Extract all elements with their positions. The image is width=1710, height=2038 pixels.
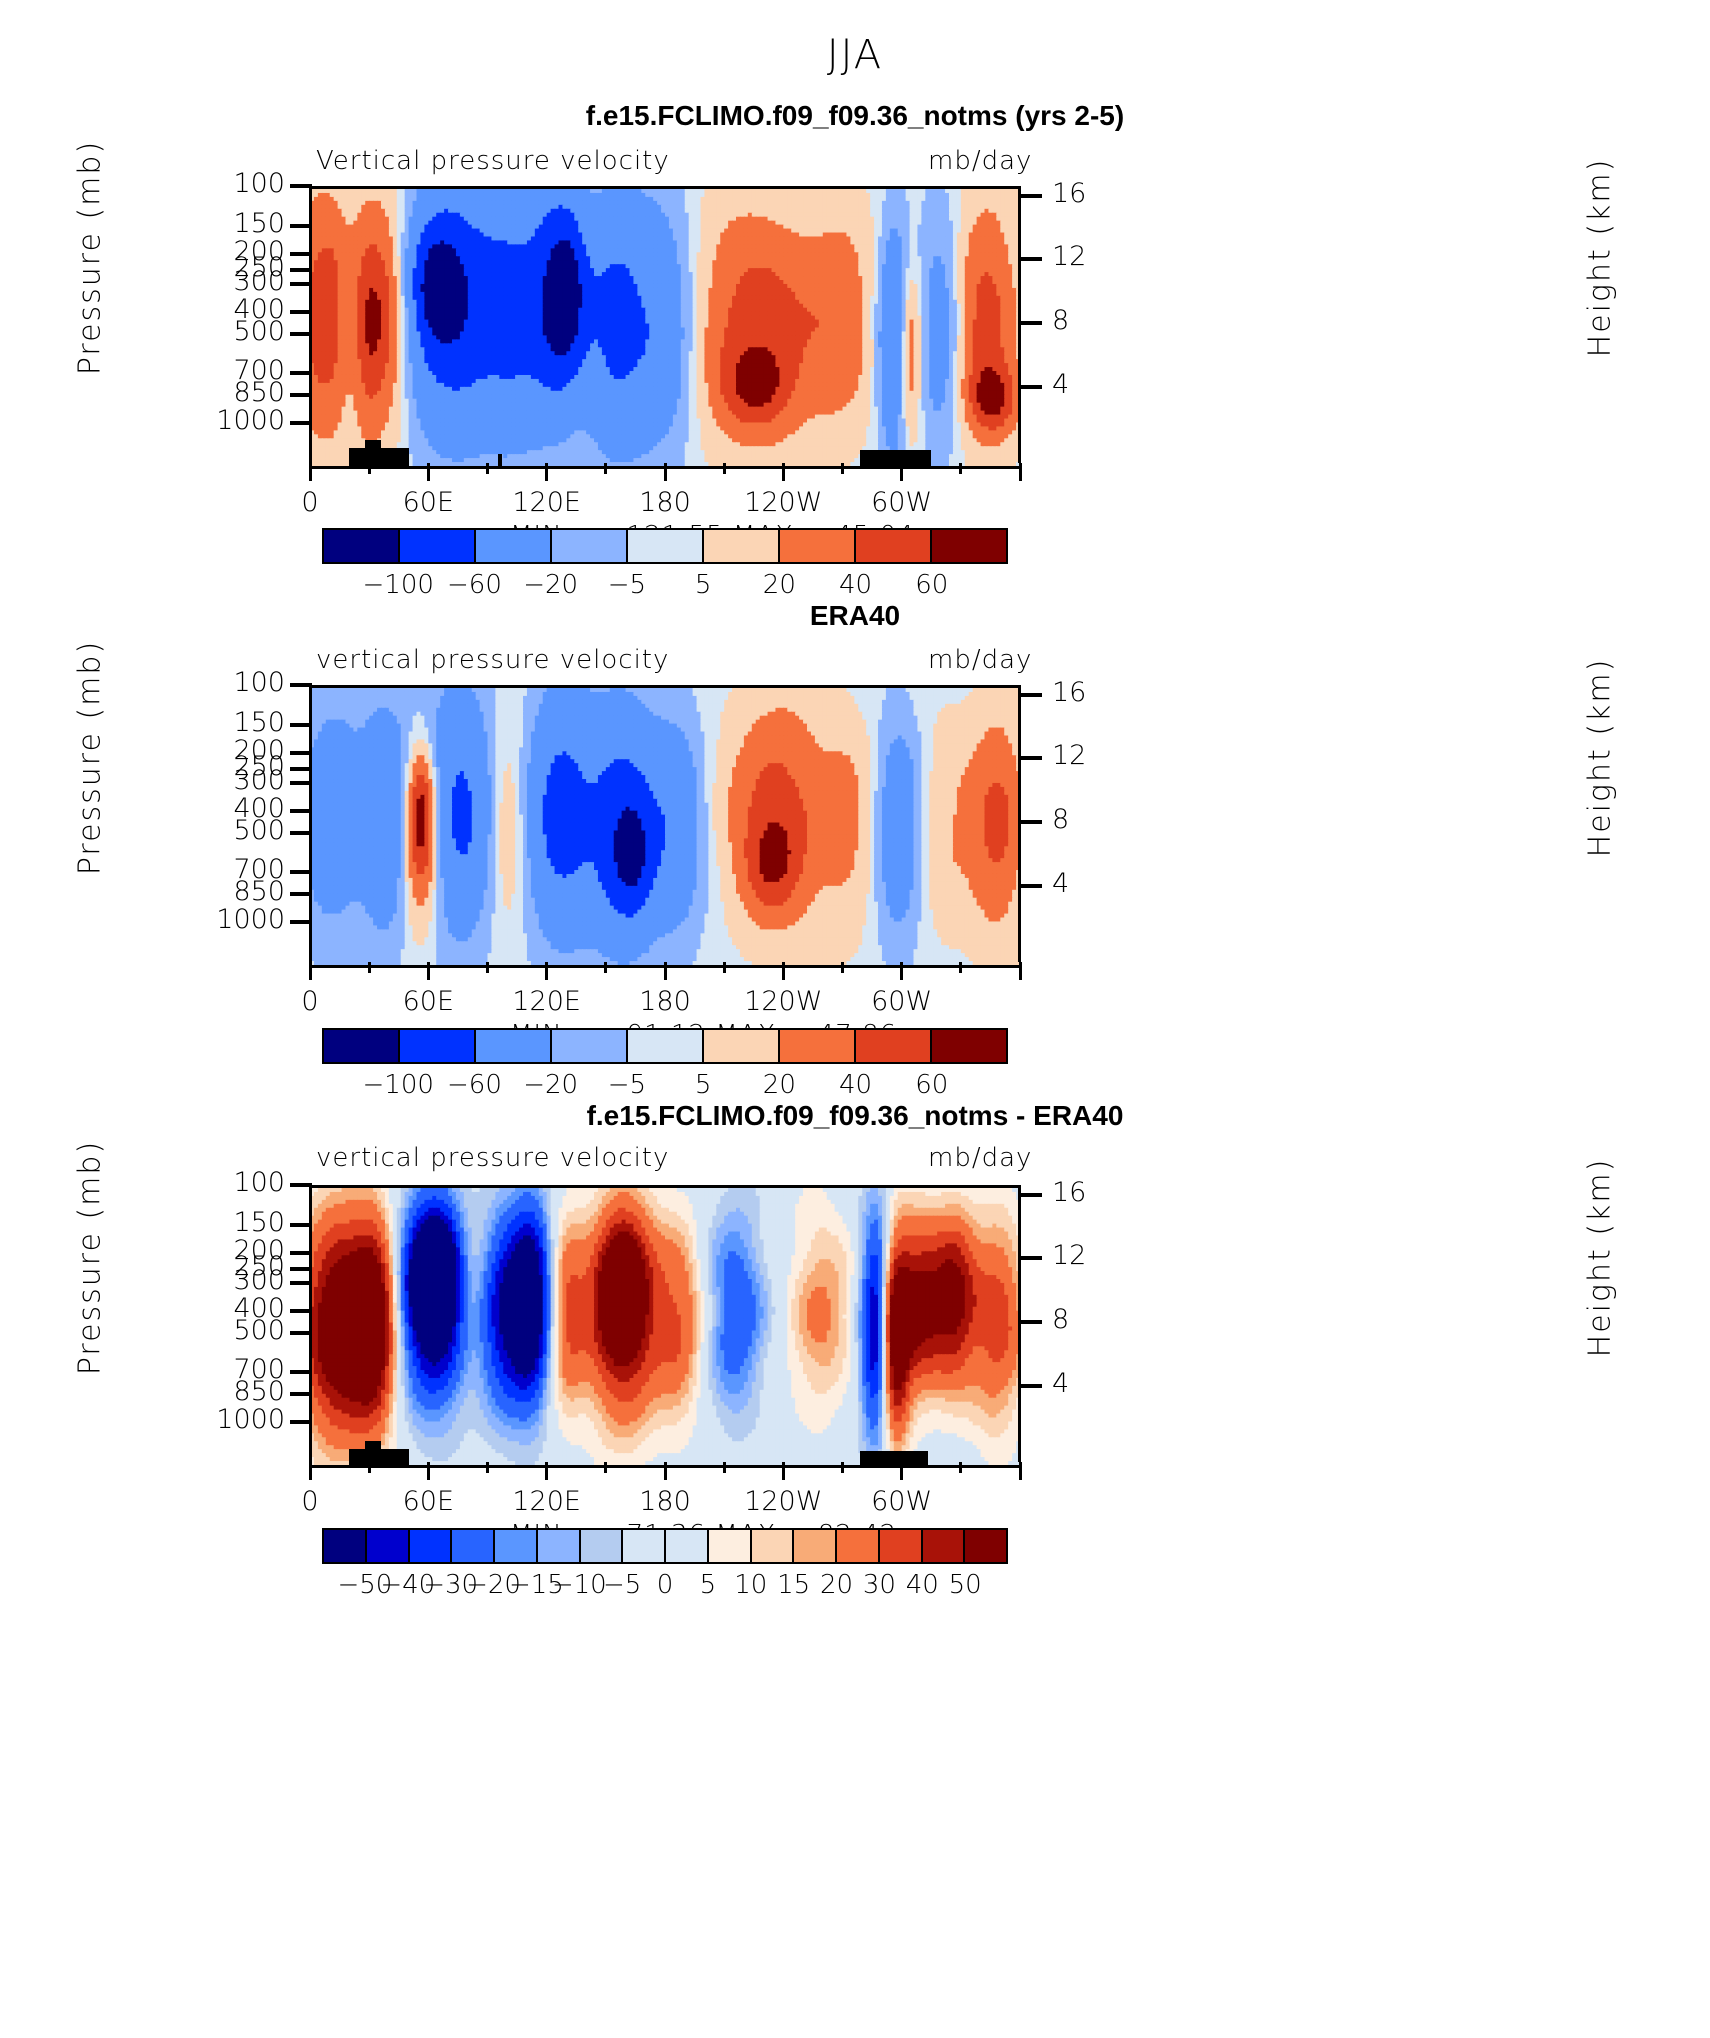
- colorbar-cell: [932, 530, 1006, 562]
- x-tick-minor: [368, 962, 371, 973]
- figure-canvas: JJA f.e15.FCLIMO.f09_f09.36_notms (yrs 2…: [0, 0, 1710, 2038]
- colorbar-tick-label: 60: [915, 1070, 948, 1100]
- x-tick-minor: [368, 1462, 371, 1473]
- y-tick-label: 100: [165, 1167, 285, 1198]
- colorbar-tick-label: −100: [363, 1070, 434, 1100]
- colorbar-cell: [752, 1530, 795, 1562]
- panel-title: f.e15.FCLIMO.f09_f09.36_notms - ERA40: [0, 1100, 1710, 1132]
- colorbar-difference: [322, 1528, 1008, 1564]
- y2-tick-label: 16: [1052, 677, 1142, 708]
- y-tick-label: 150: [165, 208, 285, 239]
- colorbar-tick-label: 20: [763, 1070, 796, 1100]
- y2-tick-label: 16: [1052, 178, 1142, 209]
- y2-tick-mark: [1020, 321, 1042, 325]
- y-tick-label: 100: [165, 168, 285, 199]
- colorbar-tick-label: 20: [763, 570, 796, 600]
- y2-tick-label: 8: [1052, 305, 1142, 336]
- y-tick-label: 150: [165, 1207, 285, 1238]
- y2-axis-label: Height (km): [1583, 1108, 1618, 1408]
- x-tick-minor: [841, 463, 844, 474]
- x-tick-major: [900, 463, 903, 481]
- colorbar-tick-label: −5: [608, 570, 646, 600]
- colorbar-model: [322, 528, 1008, 564]
- colorbar-cell: [794, 1530, 837, 1562]
- y2-tick-mark: [1020, 693, 1042, 697]
- x-tick-minor: [368, 463, 371, 474]
- x-tick-minor: [959, 962, 962, 973]
- y2-axis-label: Height (km): [1583, 108, 1618, 408]
- x-tick-minor: [959, 1462, 962, 1473]
- colorbar-cell: [880, 1530, 923, 1562]
- x-tick-minor: [841, 1462, 844, 1473]
- colorbar-tick-label: 40: [906, 1570, 939, 1600]
- x-tick-major: [545, 1462, 548, 1480]
- colorbar-cell: [552, 1030, 628, 1062]
- colorbar-tick-label: 40: [839, 570, 872, 600]
- x-tick-major: [1019, 1462, 1022, 1480]
- x-tick-major: [782, 962, 785, 980]
- x-tick-major: [900, 962, 903, 980]
- panel-right-subtitle: mb/day: [928, 146, 1032, 176]
- y2-tick-label: 16: [1052, 1177, 1142, 1208]
- panel-right-subtitle: mb/day: [928, 645, 1032, 675]
- x-tick-major: [664, 962, 667, 980]
- x-tick-major: [664, 1462, 667, 1480]
- topography-mask: [860, 1451, 927, 1465]
- plot-area-obs: [310, 685, 1020, 968]
- panel-title: ERA40: [0, 600, 1710, 632]
- y2-tick-mark: [1020, 1384, 1042, 1388]
- colorbar-tick-label: −10: [552, 1570, 607, 1600]
- y-tick-label: 850: [165, 876, 285, 907]
- colorbar-cell: [780, 1030, 856, 1062]
- panel-left-subtitle: Vertical pressure velocity: [316, 146, 670, 176]
- axis-spine-left: [309, 1185, 312, 1462]
- colorbar-tick-label: −5: [603, 1570, 641, 1600]
- y-tick-label: 850: [165, 377, 285, 408]
- colorbar-cell: [923, 1530, 966, 1562]
- x-tick-minor: [959, 463, 962, 474]
- y2-tick-label: 4: [1052, 369, 1142, 400]
- colorbar-cell: [856, 530, 932, 562]
- x-tick-major: [309, 962, 312, 980]
- panel-title: f.e15.FCLIMO.f09_f09.36_notms (yrs 2-5): [0, 100, 1710, 132]
- colorbar-cell: [476, 1030, 552, 1062]
- colorbar-tick-label: −20: [523, 1070, 578, 1100]
- y-tick-label: 850: [165, 1376, 285, 1407]
- x-tick-major: [664, 463, 667, 481]
- colorbar-tick-label: 10: [734, 1570, 767, 1600]
- panel-left-subtitle: vertical pressure velocity: [316, 645, 669, 675]
- colorbar-tick-label: 0: [657, 1570, 674, 1600]
- colorbar-cell: [704, 530, 780, 562]
- x-tick-minor: [723, 962, 726, 973]
- panel-left-subtitle: vertical pressure velocity: [316, 1143, 669, 1173]
- colorbar-tick-label: −60: [447, 1070, 502, 1100]
- colorbar-cell: [965, 1530, 1006, 1562]
- axis-spine-left: [309, 685, 312, 962]
- x-tick-minor: [604, 1462, 607, 1473]
- x-tick-major: [427, 962, 430, 980]
- y2-tick-mark: [1020, 820, 1042, 824]
- y2-tick-mark: [1020, 385, 1042, 389]
- colorbar-tick-label: −5: [608, 1070, 646, 1100]
- x-tick-major: [427, 1462, 430, 1480]
- y2-tick-mark: [1020, 194, 1042, 198]
- axis-spine-right: [1018, 186, 1021, 463]
- colorbar-cell: [780, 530, 856, 562]
- y2-tick-mark: [1020, 884, 1042, 888]
- y2-tick-label: 12: [1052, 241, 1142, 272]
- y-tick-label: 100: [165, 667, 285, 698]
- axis-spine-right: [1018, 1185, 1021, 1462]
- colorbar-tick-label: 15: [777, 1570, 810, 1600]
- colorbar-obs: [322, 1028, 1008, 1064]
- y2-tick-label: 12: [1052, 1240, 1142, 1271]
- y-axis-label: Pressure (mb): [73, 1108, 108, 1408]
- x-tick-major: [1019, 463, 1022, 481]
- colorbar-cell: [837, 1530, 880, 1562]
- topography-mask: [498, 454, 502, 466]
- y-tick-label: 300: [165, 266, 285, 297]
- y-tick-label: 500: [165, 815, 285, 846]
- colorbar-cell: [400, 1030, 476, 1062]
- axis-spine-right: [1018, 685, 1021, 962]
- axis-spine-left: [309, 186, 312, 463]
- x-tick-major: [545, 962, 548, 980]
- x-tick-major: [782, 1462, 785, 1480]
- colorbar-cell: [452, 1530, 495, 1562]
- x-tick-major: [545, 463, 548, 481]
- x-tick-minor: [486, 463, 489, 474]
- x-tick-minor: [723, 463, 726, 474]
- y2-tick-label: 12: [1052, 740, 1142, 771]
- y-axis-label: Pressure (mb): [73, 608, 108, 908]
- colorbar-tick-label: 5: [695, 1070, 712, 1100]
- x-tick-major: [309, 1462, 312, 1480]
- y2-tick-mark: [1020, 1193, 1042, 1197]
- colorbar-tick-label: 5: [695, 570, 712, 600]
- colorbar-cell: [400, 530, 476, 562]
- y2-tick-label: 4: [1052, 868, 1142, 899]
- colorbar-cell: [581, 1530, 624, 1562]
- y-tick-label: 1000: [165, 405, 285, 436]
- y-tick-label: 1000: [165, 1404, 285, 1435]
- colorbar-cell: [410, 1530, 453, 1562]
- colorbar-cell: [367, 1530, 410, 1562]
- colorbar-cell: [628, 1030, 704, 1062]
- plot-area-model: [310, 186, 1020, 469]
- colorbar-cell: [623, 1530, 666, 1562]
- colorbar-tick-label: 20: [820, 1570, 853, 1600]
- y2-tick-label: 4: [1052, 1368, 1142, 1399]
- colorbar-cell: [932, 1030, 1006, 1062]
- x-tick-major: [1019, 962, 1022, 980]
- colorbar-tick-label: 30: [863, 1570, 896, 1600]
- y-axis-label: Pressure (mb): [73, 108, 108, 408]
- x-tick-major: [782, 463, 785, 481]
- colorbar-tick-label: 5: [700, 1570, 717, 1600]
- colorbar-tick-label: −20: [523, 570, 578, 600]
- colorbar-cell: [709, 1530, 752, 1562]
- colorbar-cell: [476, 530, 552, 562]
- y2-tick-mark: [1020, 1320, 1042, 1324]
- x-tick-minor: [723, 1462, 726, 1473]
- colorbar-tick-label: −100: [363, 570, 434, 600]
- colorbar-cell: [552, 530, 628, 562]
- x-tick-minor: [604, 962, 607, 973]
- y-tick-label: 300: [165, 765, 285, 796]
- colorbar-cell: [628, 530, 704, 562]
- colorbar-cell: [324, 1030, 400, 1062]
- y2-tick-mark: [1020, 257, 1042, 261]
- panel-right-subtitle: mb/day: [928, 1143, 1032, 1173]
- y-tick-label: 300: [165, 1265, 285, 1296]
- topography-mask: [860, 450, 931, 466]
- season-title: JJA: [0, 32, 1710, 78]
- colorbar-tick-label: 50: [949, 1570, 982, 1600]
- x-tick-minor: [486, 962, 489, 973]
- colorbar-cell: [324, 1530, 367, 1562]
- colorbar-cell: [324, 530, 400, 562]
- colorbar-tick-label: 40: [839, 1070, 872, 1100]
- x-tick-minor: [486, 1462, 489, 1473]
- colorbar-tick-label: 60: [915, 570, 948, 600]
- colorbar-cell: [495, 1530, 538, 1562]
- plot-area-difference: [310, 1185, 1020, 1468]
- y2-tick-label: 8: [1052, 804, 1142, 835]
- y2-tick-label: 8: [1052, 1304, 1142, 1335]
- y-tick-label: 1000: [165, 904, 285, 935]
- colorbar-cell: [704, 1030, 780, 1062]
- x-tick-major: [900, 1462, 903, 1480]
- y-tick-label: 500: [165, 1315, 285, 1346]
- colorbar-cell: [856, 1030, 932, 1062]
- x-tick-major: [309, 463, 312, 481]
- x-tick-minor: [841, 962, 844, 973]
- y-tick-label: 500: [165, 316, 285, 347]
- y2-tick-mark: [1020, 1256, 1042, 1260]
- x-tick-label: 60W: [832, 986, 972, 1017]
- colorbar-tick-label: −60: [447, 570, 502, 600]
- y2-axis-label: Height (km): [1583, 608, 1618, 908]
- x-tick-minor: [604, 463, 607, 474]
- colorbar-cell: [666, 1530, 709, 1562]
- y-tick-label: 150: [165, 707, 285, 738]
- x-tick-label: 60W: [832, 1486, 972, 1517]
- y2-tick-mark: [1020, 756, 1042, 760]
- x-tick-major: [427, 463, 430, 481]
- colorbar-cell: [538, 1530, 581, 1562]
- x-tick-label: 60W: [832, 487, 972, 518]
